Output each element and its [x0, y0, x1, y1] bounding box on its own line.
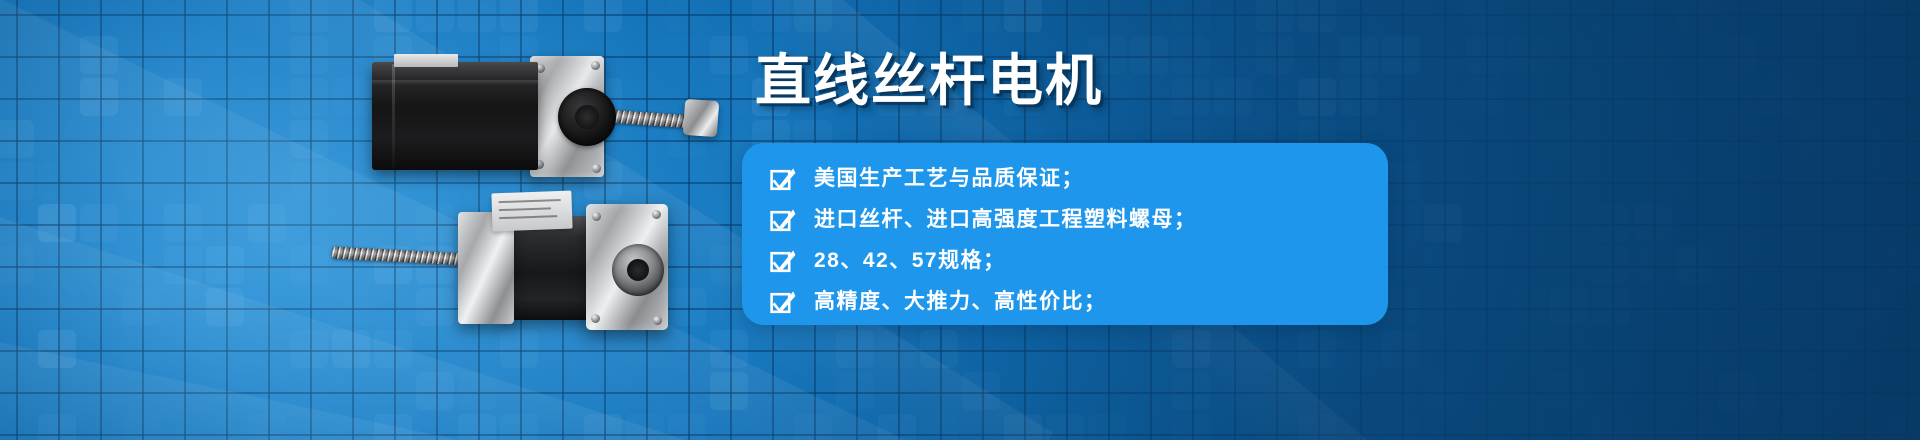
flange-bolt: [591, 61, 600, 70]
feature-list-card: 美国生产工艺与品质保证； 进口丝杆、进口高强度工程塑料螺母； 28、42、57规…: [742, 143, 1388, 325]
flange-bolt: [592, 164, 601, 173]
product-banner: 直线丝杆电机 美国生产工艺与品质保证； 进口丝杆、进口高强度工程塑料螺母；: [0, 0, 1920, 440]
feature-text: 28、42、57规格；: [814, 250, 1006, 271]
motor-label: [394, 54, 458, 67]
feature-text: 美国生产工艺与品质保证；: [814, 168, 1084, 189]
feature-item: 美国生产工艺与品质保证；: [770, 160, 1362, 197]
lead-screw-rod: [332, 246, 467, 265]
feature-item: 28、42、57规格；: [770, 242, 1362, 279]
motor-body: [372, 62, 538, 170]
product-images: [0, 0, 760, 440]
motor-label: [491, 191, 572, 232]
checkbox-checked-icon: [770, 289, 796, 315]
checkbox-checked-icon: [770, 207, 796, 233]
motor-shaft-hub: [558, 88, 616, 146]
motor-body: [506, 216, 598, 320]
flange-bolt: [591, 314, 600, 323]
feature-text: 高精度、大推力、高性价比；: [814, 291, 1107, 312]
motor-shaft-hub: [612, 244, 664, 296]
page-title: 直线丝杆电机: [755, 50, 1103, 112]
flange-bolt: [653, 316, 662, 325]
black-stepper-motor-image: [372, 52, 672, 187]
feature-text: 进口丝杆、进口高强度工程塑料螺母；: [814, 209, 1197, 230]
feature-item: 高精度、大推力、高性价比；: [770, 283, 1362, 320]
flange-bolt: [652, 210, 661, 219]
flange-bolt: [592, 212, 601, 221]
checkbox-checked-icon: [770, 166, 796, 192]
motor-body-ridge: [392, 64, 395, 168]
screw-nut: [683, 99, 719, 137]
checkbox-checked-icon: [770, 248, 796, 274]
silver-stepper-motor-image: [330, 196, 660, 331]
feature-item: 进口丝杆、进口高强度工程塑料螺母；: [770, 201, 1362, 238]
